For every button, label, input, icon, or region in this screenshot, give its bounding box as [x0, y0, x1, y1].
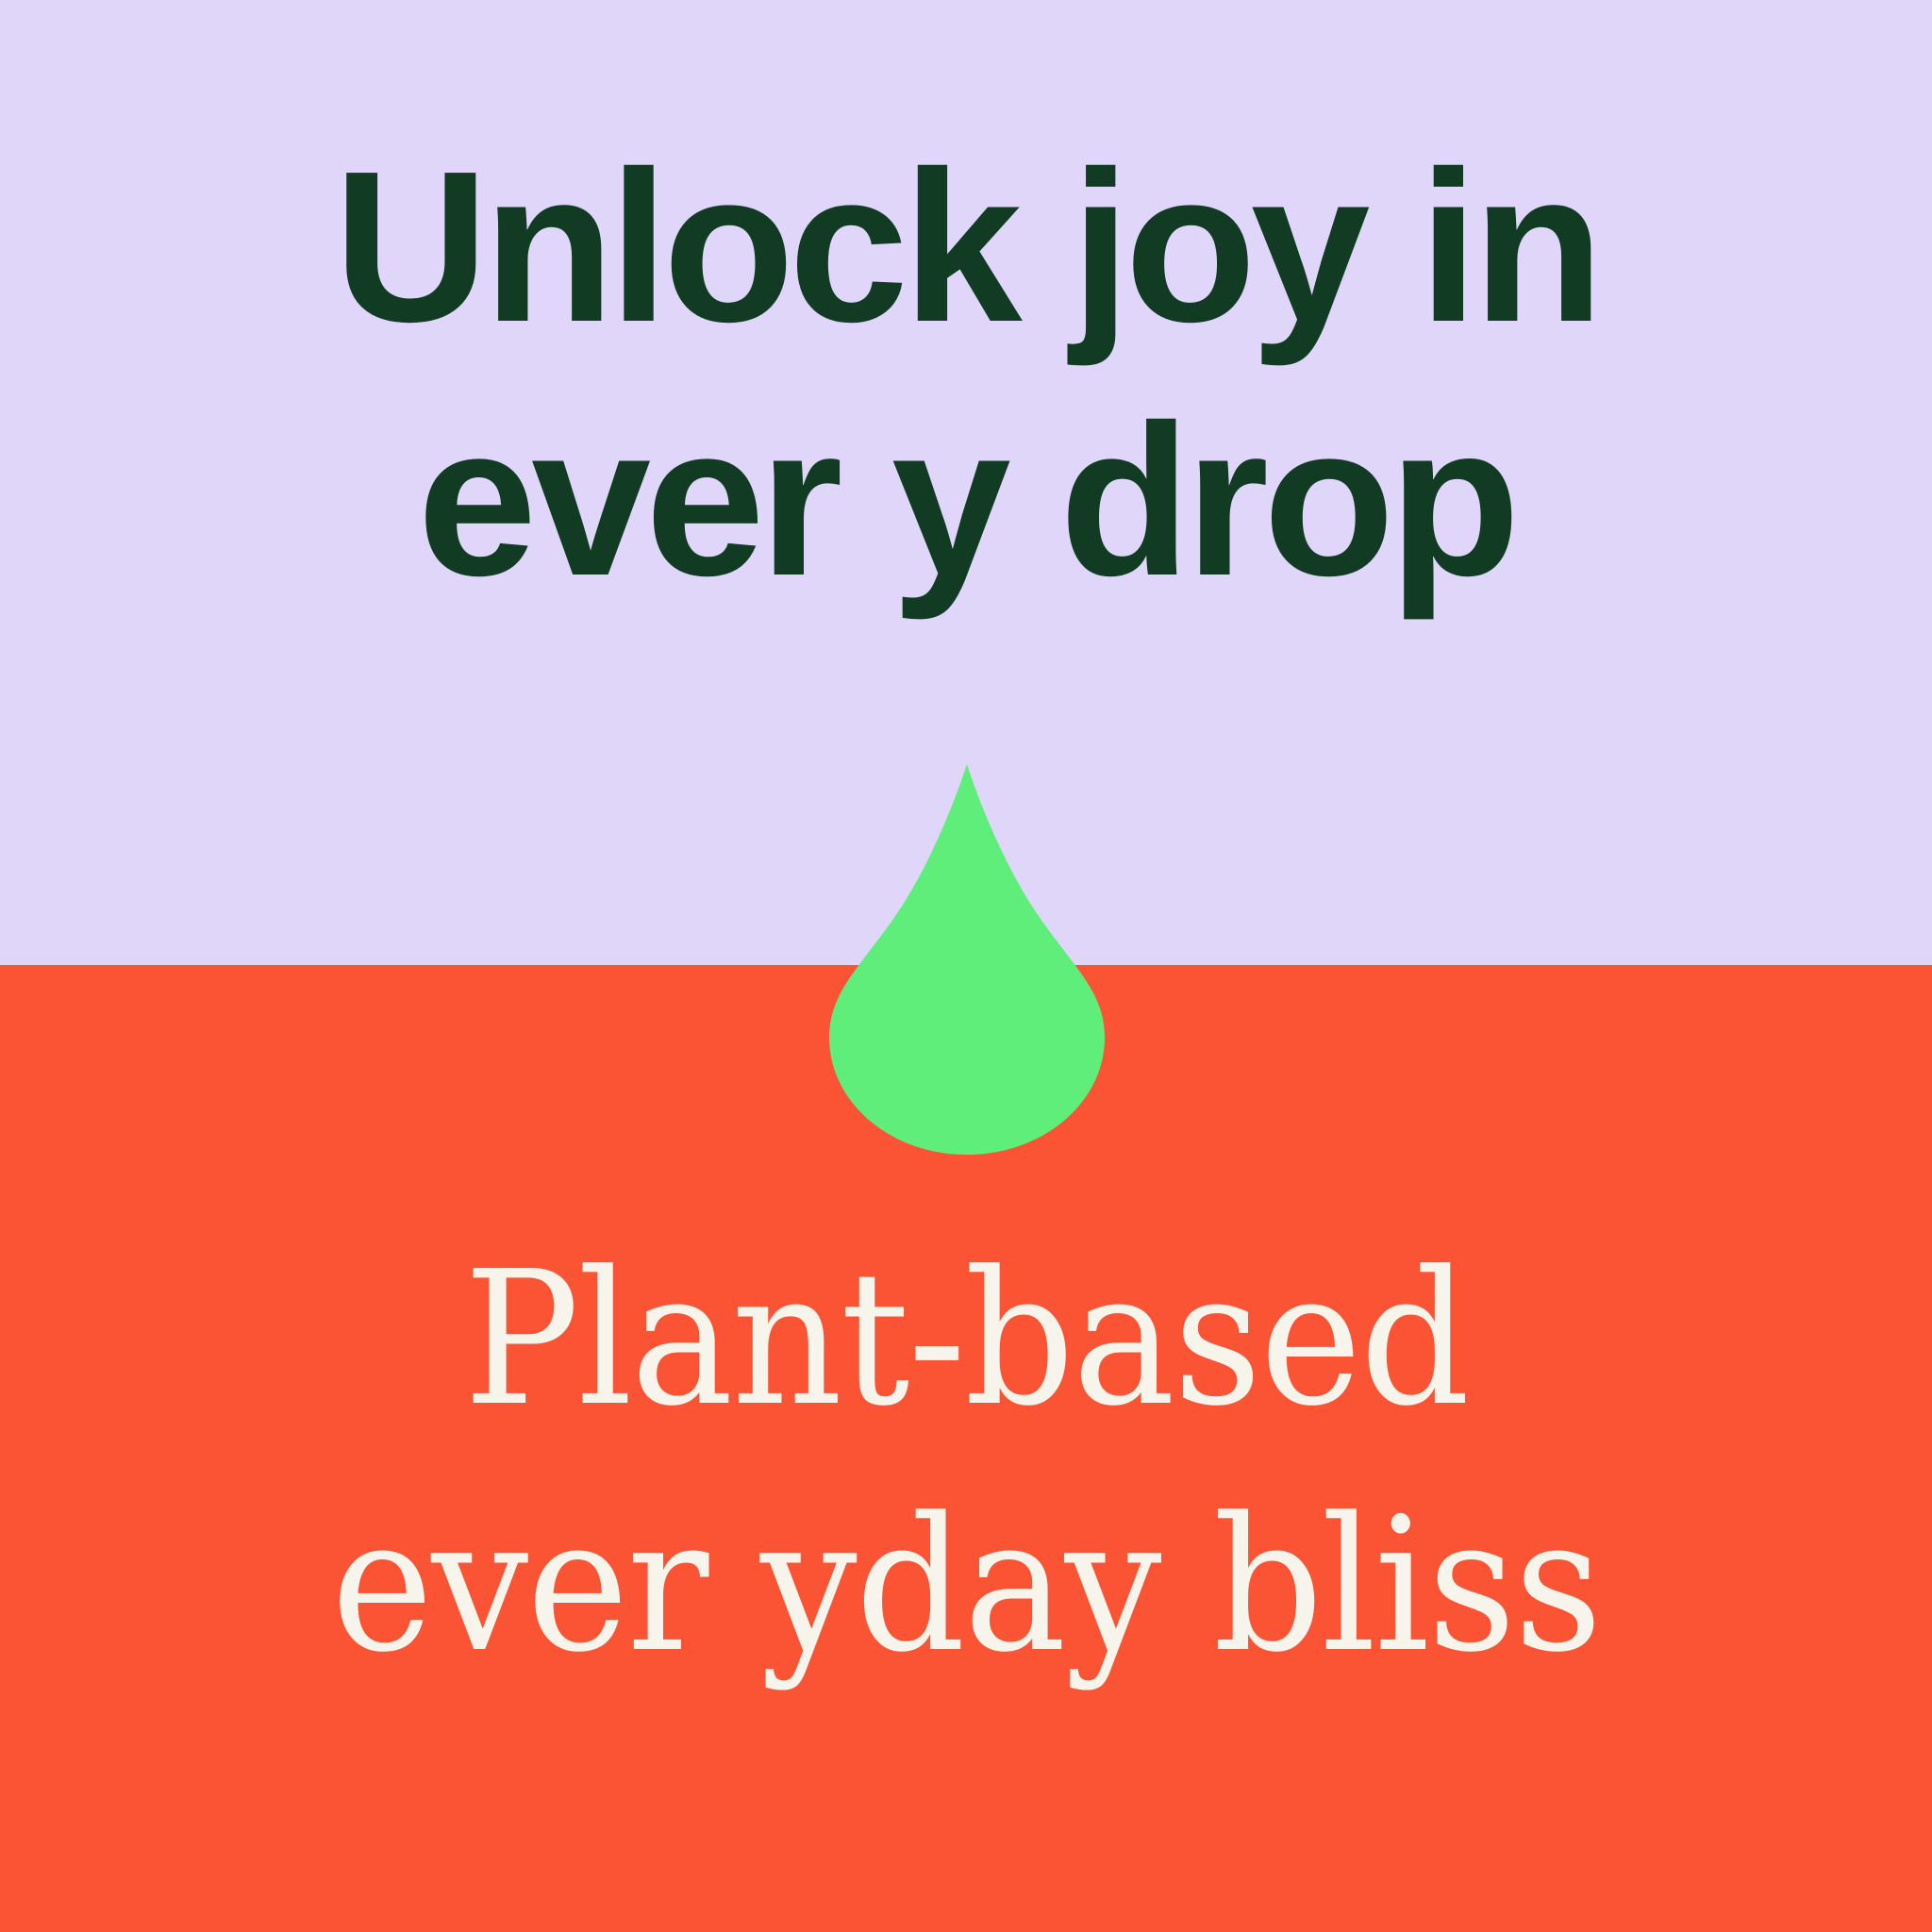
water-droplet-icon [829, 764, 1105, 1155]
poster-canvas: Unlock joy in ever y drop Plant-based ev… [0, 0, 1932, 1932]
headline-text: Unlock joy in ever y drop [0, 121, 1932, 628]
subline-text: Plant-based ever yday bliss [68, 1217, 1865, 1708]
